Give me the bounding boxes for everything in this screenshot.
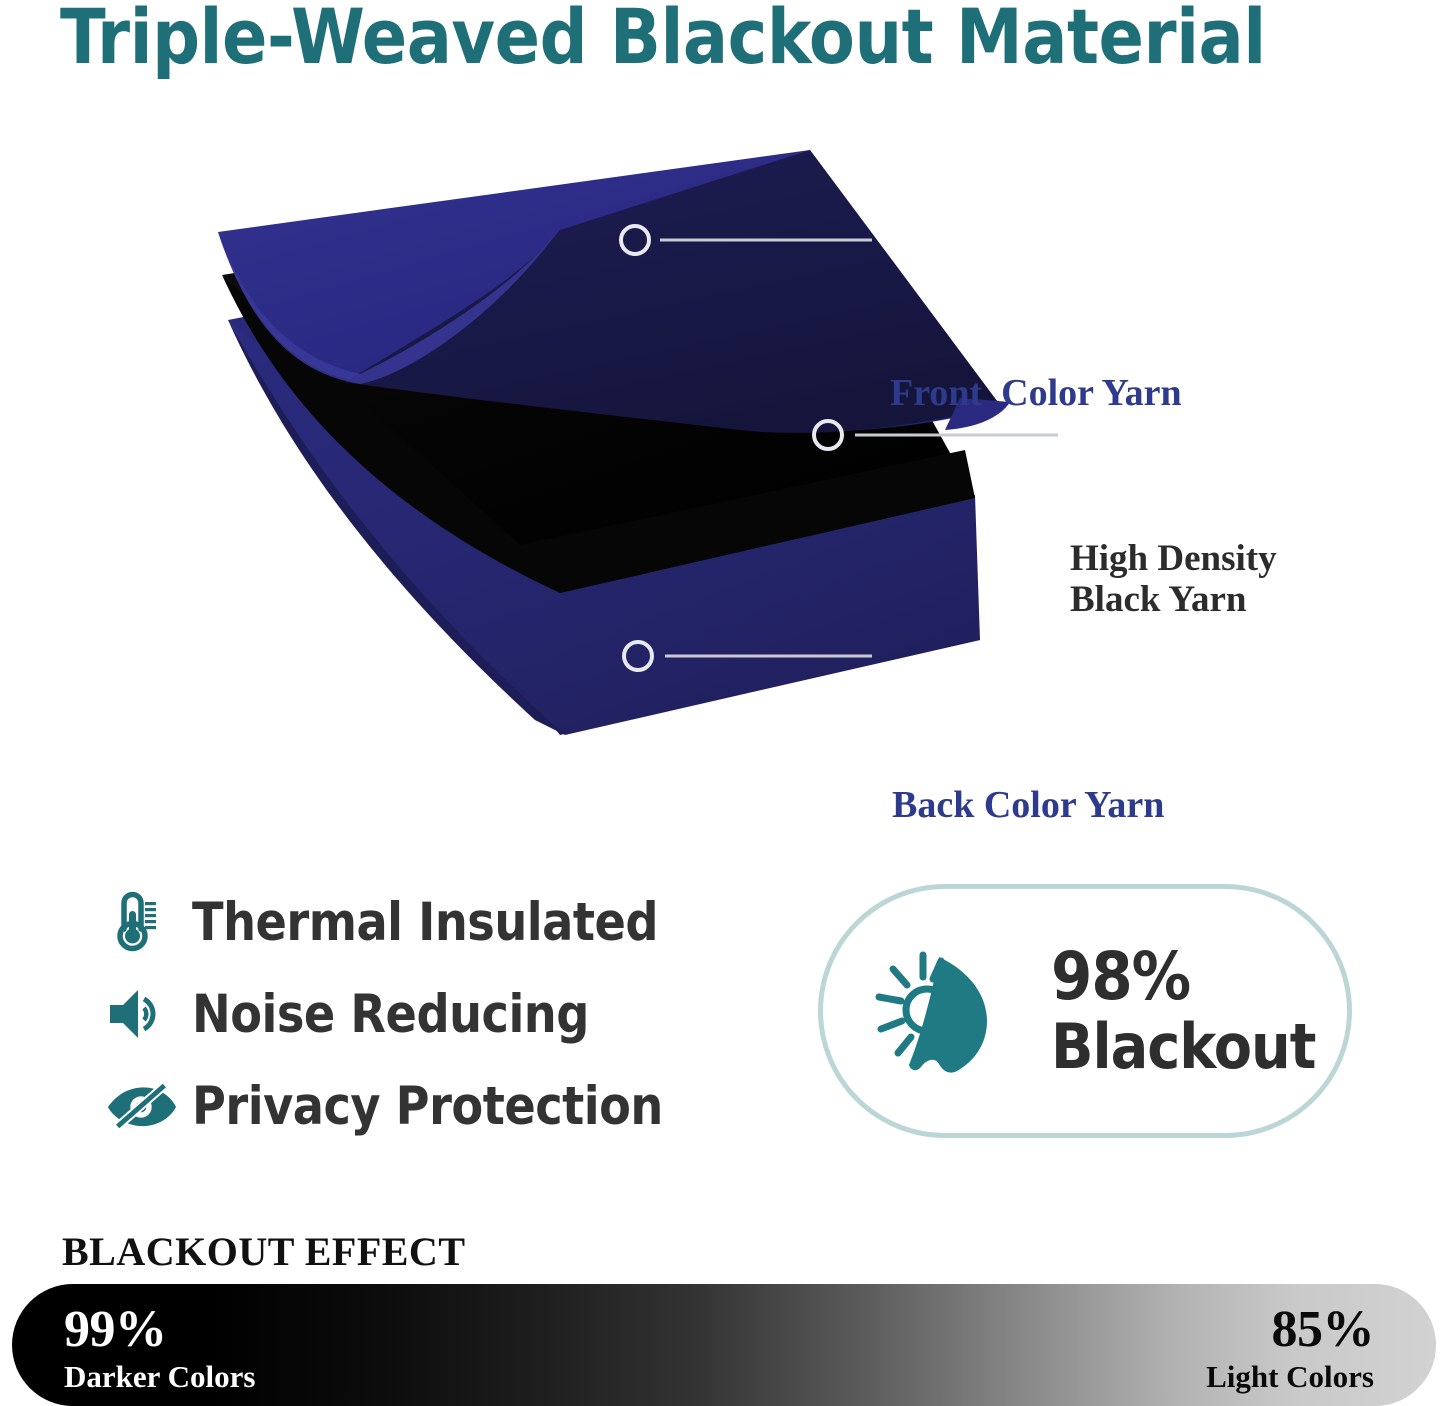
feature-row-thermal-insulated: Thermal Insulated: [104, 876, 744, 968]
callout-label-back-color-yarn: Back Color Yarn: [892, 784, 1164, 827]
eye-slash-icon: [104, 1069, 178, 1143]
badge-text-block: 98% Blackout: [1051, 944, 1315, 1078]
sun-blocked-icon: [865, 931, 1015, 1091]
blackout-badge: 98% Blackout: [818, 884, 1352, 1138]
thermometer-icon: [104, 885, 178, 959]
darker-colors-percent: 99%: [64, 1304, 255, 1356]
light-colors-percent: 85%: [1206, 1304, 1374, 1356]
callout-label-line-1: High Density: [1070, 538, 1277, 579]
darker-colors-sublabel: Darker Colors: [64, 1361, 255, 1392]
feature-label-noise-reducing: Noise Reducing: [192, 984, 589, 1045]
light-colors-sublabel: Light Colors: [1206, 1361, 1374, 1392]
feature-row-noise-reducing: Noise Reducing: [104, 968, 744, 1060]
page-title: Triple-Weaved Blackout Material: [60, 0, 1373, 82]
speaker-icon: [104, 977, 178, 1051]
feature-row-privacy-protection: Privacy Protection: [104, 1060, 744, 1152]
blackout-stat-darker-colors: 99% Darker Colors: [64, 1304, 255, 1392]
blackout-effect-heading: BLACKOUT EFFECT: [62, 1228, 466, 1275]
badge-word-label: Blackout: [1051, 1016, 1315, 1078]
callout-label-front-color-yarn: Front Color Yarn: [890, 372, 1182, 415]
triple-weave-layer-diagram: Front Color Yarn High DensityBlack Yarn …: [0, 150, 1445, 770]
features-list: Thermal Insulated Noise Reducing Privacy…: [104, 876, 744, 1152]
blackout-stat-light-colors: 85% Light Colors: [1206, 1304, 1374, 1392]
blackout-effect-gradient-bar: 99% Darker Colors 85% Light Colors: [12, 1284, 1436, 1406]
feature-label-thermal-insulated: Thermal Insulated: [192, 892, 658, 953]
feature-label-privacy-protection: Privacy Protection: [192, 1076, 663, 1137]
callout-label-line-2: Black Yarn: [1070, 579, 1246, 620]
badge-percent-value: 98%: [1051, 944, 1315, 1010]
callout-label-high-density-black-yarn: High DensityBlack Yarn: [1070, 538, 1277, 621]
